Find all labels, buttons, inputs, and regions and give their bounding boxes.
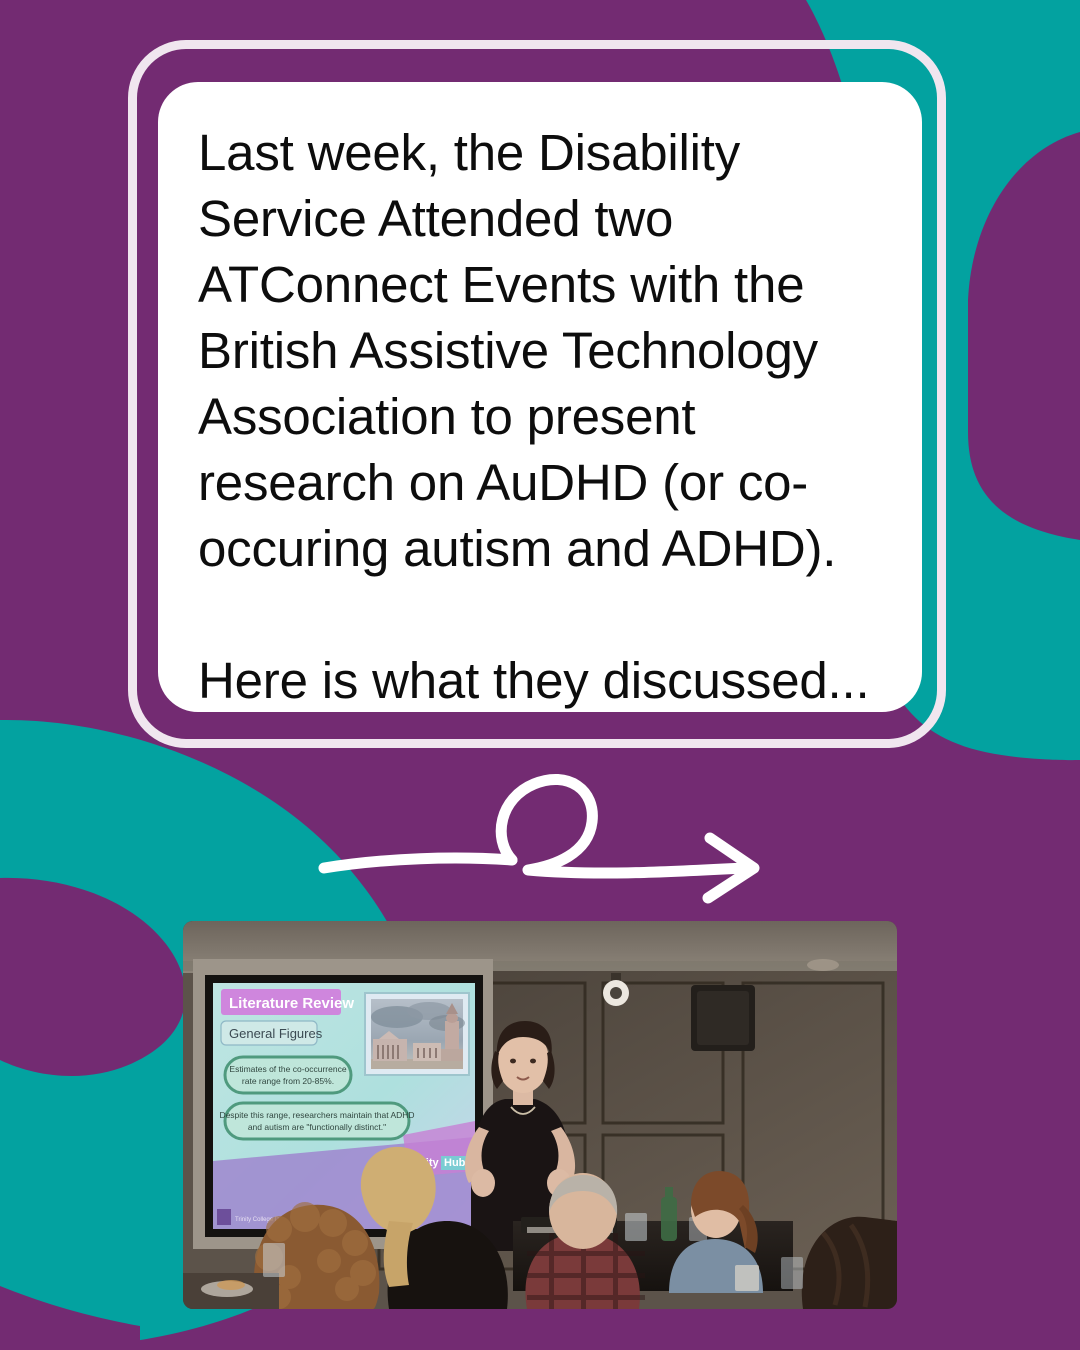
slide-title-text: Literature Review (229, 995, 354, 1012)
purple-corner-bottom-left (0, 1286, 140, 1350)
ceiling-light (807, 959, 839, 971)
slide-campus-photo (365, 993, 469, 1075)
slide-bullet-1-line-1: Estimates of the co-occurrence (229, 1064, 346, 1074)
slide-bullet-2-line-1: Despite this range, researchers maintain… (219, 1110, 414, 1120)
purple-notch-top-right (968, 132, 1080, 540)
svg-text:Hub: Hub (444, 1157, 466, 1169)
slide-bullet-1-line-2: rate range from 20-85%. (242, 1076, 334, 1086)
slide-bullet-1 (225, 1057, 351, 1093)
arrow-loop (501, 779, 744, 873)
projected-slide: Literature Review General Figures Estima… (213, 983, 475, 1229)
wall-speaker (691, 985, 755, 1051)
instagram-post-canvas: Last week, the Disability Service Attend… (0, 0, 1080, 1350)
slide-subtitle-text: General Figures (229, 1026, 323, 1041)
slide-bullet-2 (225, 1103, 409, 1139)
looped-arrow-icon (296, 772, 796, 907)
quote-card: Last week, the Disability Service Attend… (158, 82, 922, 712)
purple-teardrop-bottom-left (0, 878, 185, 1076)
slide-bullet-2-line-2: and autism are "functionally distinct." (248, 1122, 386, 1132)
event-photo: Literature Review General Figures Estima… (183, 921, 897, 1309)
arrow-tail (324, 858, 512, 868)
quote-card-body: Last week, the Disability Service Attend… (198, 120, 876, 712)
